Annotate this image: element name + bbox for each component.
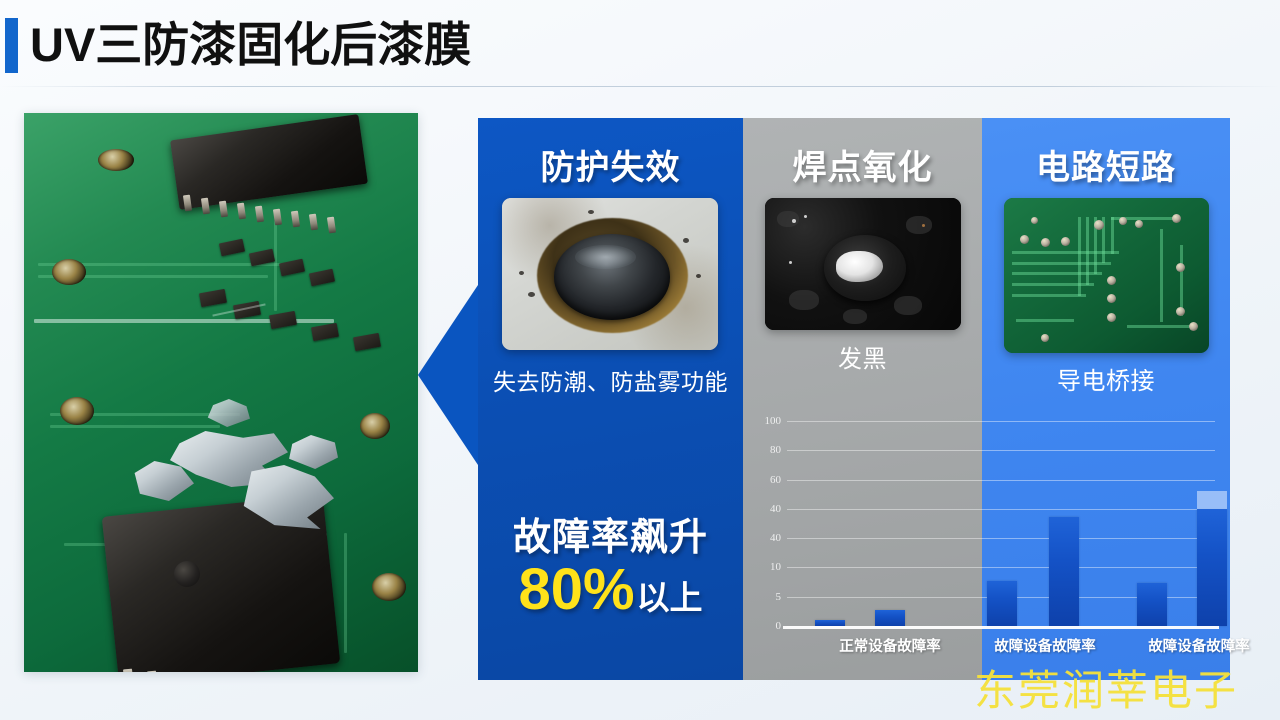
chart-gridline: 10	[787, 567, 1215, 568]
panel-3-title: 电路短路	[982, 140, 1230, 189]
chart-gridline: 40	[787, 538, 1215, 539]
oxide-grit	[789, 290, 819, 310]
chart-y-tick-label: 10	[770, 561, 781, 573]
panel-protection-failure[interactable]: 防护失效 失去防潮、防盐雾功能 故障率飙升 80%以上	[478, 118, 743, 680]
slide-root: UV三防漆固化后漆膜	[0, 0, 1280, 720]
failure-rate-number: 80%	[518, 557, 634, 622]
chart-y-tick-label: 40	[770, 532, 781, 544]
title-accent-bar	[5, 18, 18, 73]
chart-x-label: 故障设备故障率	[994, 635, 1096, 656]
pcb-via	[98, 149, 134, 171]
pcb-via	[372, 573, 406, 601]
pcb3-pad	[1135, 220, 1143, 228]
failure-rate-bar-chart: 100806040401050 正常设备故障率故障设备故障率故障设备故障率	[743, 411, 1230, 680]
pcb3-pad	[1176, 307, 1185, 316]
chart-bar	[1137, 583, 1167, 626]
pcb-trace	[274, 221, 277, 311]
corroded-solder-photo	[502, 198, 718, 350]
slide-header: UV三防漆固化后漆膜	[0, 0, 1280, 92]
pcb-traces-photo	[1004, 198, 1209, 353]
chart-y-tick-label: 100	[765, 415, 782, 427]
chart-x-label: 故障设备故障率	[1148, 635, 1250, 656]
chart-bar	[1049, 517, 1079, 626]
failure-panels-group: 防护失效 失去防潮、防盐雾功能 故障率飙升 80%以上 焊点氧化	[478, 118, 1230, 680]
pcb3-trace	[1111, 217, 1114, 254]
panel-1-caption: 失去防潮、防盐雾功能	[484, 366, 737, 398]
company-watermark: 东莞润莘电子	[974, 657, 1238, 718]
panel-3-caption: 导电桥接	[988, 366, 1224, 398]
page-title: UV三防漆固化后漆膜	[30, 12, 471, 78]
pcb-via	[360, 413, 390, 439]
pcb3-trace	[1012, 294, 1086, 297]
pcb3-trace	[1078, 217, 1081, 296]
header-divider	[0, 86, 1280, 87]
chart-y-tick-label: 40	[770, 503, 781, 515]
chart-gridline: 100	[787, 421, 1215, 422]
panel-1-title: 防护失效	[478, 140, 743, 189]
pcb-trace	[50, 425, 220, 428]
chart-gridline: 60	[787, 480, 1215, 481]
panel-2-title: 焊点氧化	[743, 140, 982, 189]
pcb3-pad	[1189, 322, 1198, 331]
pcb3-trace	[1160, 229, 1163, 322]
pcb3-pad	[1107, 313, 1116, 322]
chart-y-tick-label: 0	[776, 620, 782, 632]
panel-2-caption: 发黑	[749, 344, 976, 376]
oxidized-solder-photo	[765, 198, 961, 330]
chart-x-axis	[783, 626, 1219, 629]
pcb3-trace	[1180, 245, 1183, 316]
pcb3-pad	[1031, 217, 1038, 224]
pcb-coating-photo	[24, 113, 418, 672]
pcb3-pad	[1119, 217, 1127, 225]
chart-x-label: 正常设备故障率	[839, 635, 941, 656]
failure-rate-headline: 故障率飙升	[478, 506, 743, 561]
chart-gridline: 40	[787, 509, 1215, 510]
pcb3-pad	[1107, 276, 1116, 285]
chart-y-tick-label: 60	[770, 474, 781, 486]
pcb3-trace	[1127, 325, 1189, 328]
pcb3-pad	[1094, 220, 1104, 230]
chart-bar	[1197, 509, 1227, 626]
corrosion-speck	[683, 238, 689, 243]
pcb-via	[60, 397, 94, 425]
pcb3-pad	[1107, 294, 1116, 303]
chart-y-tick-label: 80	[770, 444, 781, 456]
left-pointing-arrow-icon	[418, 282, 480, 468]
chart-bar-cap	[1197, 491, 1227, 509]
chart-gridline: 80	[787, 450, 1215, 451]
chart-y-tick-label: 5	[776, 591, 782, 603]
oxide-grit	[894, 296, 922, 315]
chart-plot-area: 100806040401050	[787, 421, 1215, 626]
oxide-grit	[843, 309, 867, 324]
pcb3-trace	[1086, 217, 1089, 285]
chart-bar	[987, 581, 1017, 626]
pcb-via	[52, 259, 86, 285]
pcb3-pad	[1172, 214, 1181, 223]
failure-rate-value-row: 80%以上	[478, 556, 743, 623]
pcb3-trace	[1012, 283, 1094, 286]
pcb-trace	[344, 533, 347, 653]
oxide-grit	[906, 216, 932, 234]
failure-rate-suffix: 以上	[637, 579, 703, 616]
chart-bar	[875, 610, 905, 626]
pcb3-trace	[1016, 319, 1073, 322]
